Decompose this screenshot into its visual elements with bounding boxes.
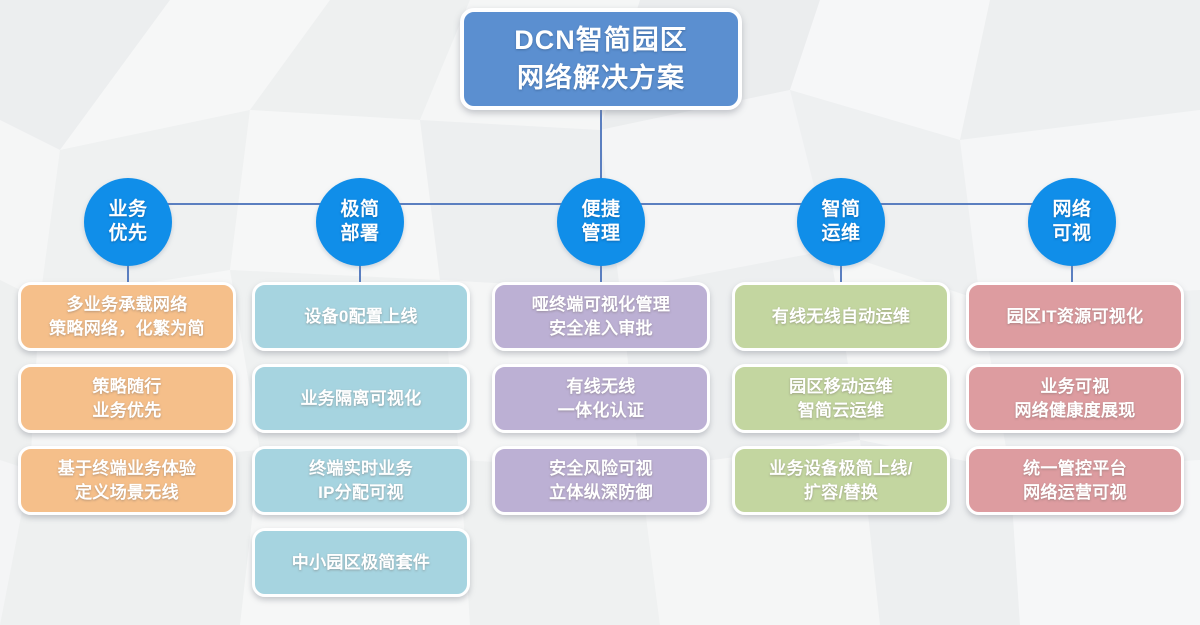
feature-card-line: 哑终端可视化管理 xyxy=(532,293,670,317)
feature-card-line: 立体纵深防御 xyxy=(549,481,653,505)
feature-card-line: 安全风险可视 xyxy=(549,457,653,481)
pillar-circle-smart-ops[interactable]: 智简运维 xyxy=(797,178,885,266)
feature-card[interactable]: 园区移动运维智简云运维 xyxy=(732,364,950,433)
feature-card-line: 策略随行 xyxy=(92,375,161,399)
column-net-visible: 园区IT资源可视化业务可视网络健康度展现统一管控平台网络运营可视 xyxy=(966,282,1184,515)
pillar-circle-business-first[interactable]: 业务优先 xyxy=(84,178,172,266)
pillar-label-line-2: 部署 xyxy=(340,222,379,246)
feature-card-line: 安全准入审批 xyxy=(549,317,653,341)
feature-card-line: 有线无线自动运维 xyxy=(772,305,910,329)
diagram-canvas: DCN智简园区 网络解决方案 业务优先极简部署便捷管理智简运维网络可视多业务承载… xyxy=(0,0,1200,625)
pillar-label-line-2: 可视 xyxy=(1052,222,1091,246)
feature-card[interactable]: 策略随行业务优先 xyxy=(18,364,236,433)
feature-card-line: 网络健康度展现 xyxy=(1014,399,1135,423)
pillar-circle-net-visible[interactable]: 网络可视 xyxy=(1028,178,1116,266)
pillar-label-line-2: 管理 xyxy=(581,222,620,246)
feature-card-line: 设备0配置上线 xyxy=(304,305,418,329)
feature-card[interactable]: 终端实时业务IP分配可视 xyxy=(252,446,470,515)
feature-card-line: 策略网络，化繁为简 xyxy=(49,317,205,341)
feature-card-line: 业务优先 xyxy=(92,399,161,423)
feature-card[interactable]: 有线无线自动运维 xyxy=(732,282,950,351)
feature-card[interactable]: 安全风险可视立体纵深防御 xyxy=(492,446,710,515)
pillar-label-line-2: 运维 xyxy=(821,222,860,246)
feature-card-line: 一体化认证 xyxy=(558,399,645,423)
column-business-first: 多业务承载网络策略网络，化繁为简策略随行业务优先基于终端业务体验定义场景无线 xyxy=(18,282,236,515)
feature-card-line: 统一管控平台 xyxy=(1023,457,1127,481)
solution-title-box: DCN智简园区 网络解决方案 xyxy=(460,8,742,110)
column-simple-deploy: 设备0配置上线业务隔离可视化终端实时业务IP分配可视中小园区极简套件 xyxy=(252,282,470,597)
feature-card-line: 基于终端业务体验 xyxy=(58,457,196,481)
solution-title-line-2: 网络解决方案 xyxy=(517,59,685,97)
feature-card[interactable]: 统一管控平台网络运营可视 xyxy=(966,446,1184,515)
pillar-label-line-1: 极简 xyxy=(340,198,379,222)
feature-card[interactable]: 多业务承载网络策略网络，化繁为简 xyxy=(18,282,236,351)
feature-card-line: 网络运营可视 xyxy=(1023,481,1127,505)
pillar-label-line-1: 便捷 xyxy=(581,198,620,222)
feature-card-line: 业务可视 xyxy=(1040,375,1109,399)
feature-card-line: 多业务承载网络 xyxy=(66,293,187,317)
pillar-label-line-1: 智简 xyxy=(821,198,860,222)
feature-card-line: 业务设备极简上线/ xyxy=(769,457,912,481)
feature-card-line: 扩容/替换 xyxy=(804,481,878,505)
feature-card-line: 智简云运维 xyxy=(798,399,885,423)
feature-card-line: 中小园区极简套件 xyxy=(292,551,430,575)
pillar-label-line-2: 优先 xyxy=(108,222,147,246)
feature-card[interactable]: 园区IT资源可视化 xyxy=(966,282,1184,351)
solution-title-line-1: DCN智简园区 xyxy=(514,21,688,59)
feature-card-line: IP分配可视 xyxy=(318,481,404,505)
pillar-circle-simple-deploy[interactable]: 极简部署 xyxy=(316,178,404,266)
pillar-label-line-1: 业务 xyxy=(108,198,147,222)
feature-card-line: 终端实时业务 xyxy=(309,457,413,481)
column-easy-manage: 哑终端可视化管理安全准入审批有线无线一体化认证安全风险可视立体纵深防御 xyxy=(492,282,710,515)
feature-card[interactable]: 业务隔离可视化 xyxy=(252,364,470,433)
feature-card[interactable]: 业务设备极简上线/扩容/替换 xyxy=(732,446,950,515)
feature-card-line: 园区移动运维 xyxy=(789,375,893,399)
feature-card[interactable]: 基于终端业务体验定义场景无线 xyxy=(18,446,236,515)
feature-card-line: 有线无线 xyxy=(566,375,635,399)
pillar-label-line-1: 网络 xyxy=(1052,198,1091,222)
feature-card-line: 园区IT资源可视化 xyxy=(1007,305,1144,329)
feature-card[interactable]: 有线无线一体化认证 xyxy=(492,364,710,433)
feature-card[interactable]: 业务可视网络健康度展现 xyxy=(966,364,1184,433)
feature-card[interactable]: 设备0配置上线 xyxy=(252,282,470,351)
feature-card[interactable]: 哑终端可视化管理安全准入审批 xyxy=(492,282,710,351)
pillar-circle-easy-manage[interactable]: 便捷管理 xyxy=(557,178,645,266)
feature-card-line: 定义场景无线 xyxy=(75,481,179,505)
feature-card[interactable]: 中小园区极简套件 xyxy=(252,528,470,597)
column-smart-ops: 有线无线自动运维园区移动运维智简云运维业务设备极简上线/扩容/替换 xyxy=(732,282,950,515)
feature-card-line: 业务隔离可视化 xyxy=(300,387,421,411)
